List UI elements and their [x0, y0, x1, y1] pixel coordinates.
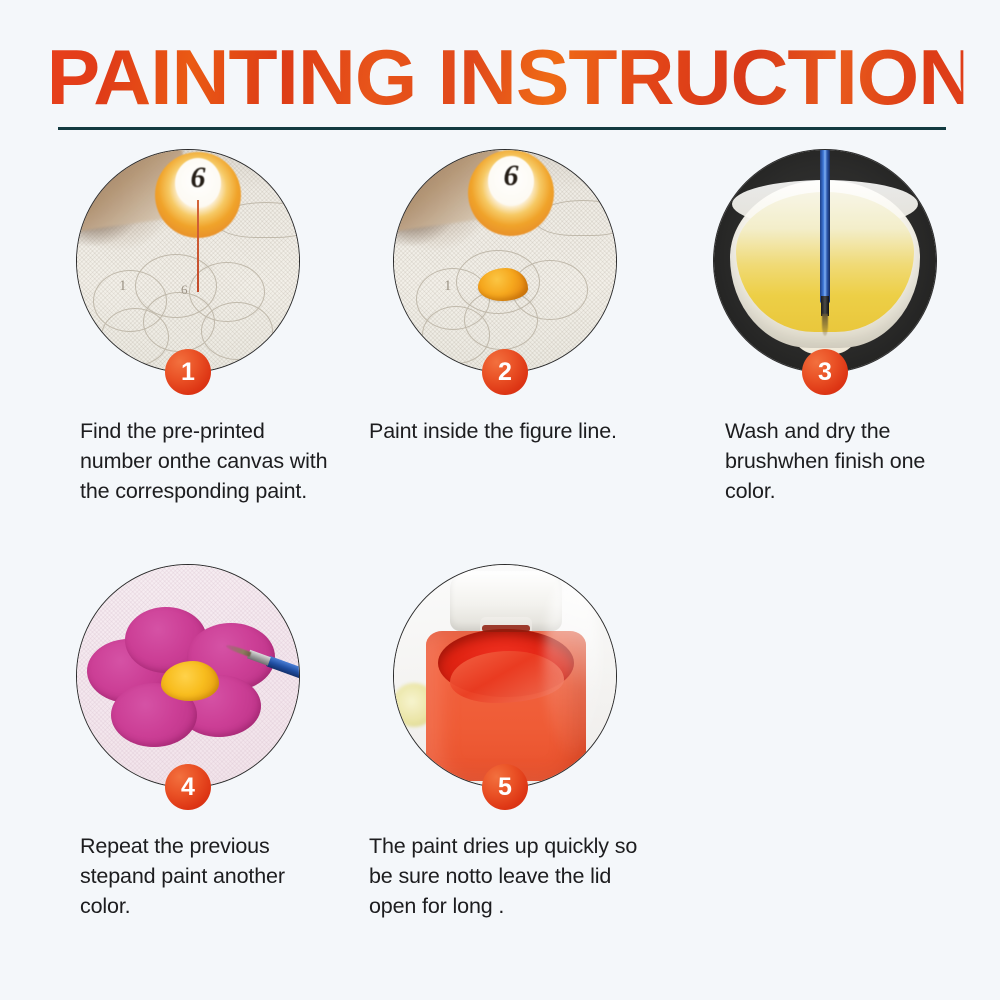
painted-color-blob	[478, 268, 528, 301]
step-badge-2: 2	[482, 349, 528, 395]
step-card-4: 4 Repeat the previous stepand paint anot…	[38, 565, 338, 921]
flower-outline	[201, 302, 273, 360]
flower-center	[161, 661, 219, 701]
step-badge-3: 3	[802, 349, 848, 395]
flower-outline	[422, 306, 490, 364]
step-badge-4: 4	[165, 764, 211, 810]
step-badge-1: 1	[165, 349, 211, 395]
step-caption-2: Paint inside the figure line.	[355, 416, 655, 446]
highlight-gloss	[544, 575, 600, 755]
flower-outline	[101, 308, 169, 366]
page-header: PAINTING INSTRUCTION	[0, 0, 1000, 140]
step-2-media: 1 6 2	[394, 150, 616, 372]
step-caption-5: The paint dries up quickly so be sure no…	[355, 831, 655, 921]
painted-blob-on-canvas-photo: 1 6	[394, 150, 616, 372]
pot-number-label: 6	[488, 159, 534, 193]
canvas-with-preprinted-number-photo: 1 6 6	[77, 150, 299, 372]
pink-flower-painted-photo	[77, 565, 299, 787]
step-caption-3: Wash and dry the brushwhen finish one co…	[675, 416, 975, 506]
step-4-media: 4	[77, 565, 299, 787]
lid-hinge	[482, 625, 530, 632]
brush-bristles	[822, 314, 828, 336]
step-5-media: 5	[394, 565, 616, 787]
canvas-number-6: 6	[181, 282, 188, 298]
canvas-number-1: 1	[119, 278, 127, 295]
brush-handle	[820, 150, 830, 304]
step-card-1: 1 6 6 1 Find the pre-printed number onth…	[38, 150, 338, 506]
title-underline-rule	[58, 127, 946, 130]
step-badge-5: 5	[482, 764, 528, 810]
pot-number-label: 6	[175, 161, 221, 195]
step-caption-1: Find the pre-printed number onthe canvas…	[38, 416, 338, 506]
step-card-5: 5 The paint dries up quickly so be sure …	[355, 565, 655, 921]
pointer-line	[197, 200, 199, 292]
step-3-media: 3	[714, 150, 936, 372]
brush-washing-in-cup-photo	[714, 150, 936, 372]
step-caption-4: Repeat the previous stepand paint anothe…	[38, 831, 338, 921]
page-title: PAINTING INSTRUCTION	[47, 36, 964, 118]
step-card-2: 1 6 2 Paint inside the figure line.	[355, 150, 655, 446]
step-card-3: 3 Wash and dry the brushwhen finish one …	[675, 150, 975, 506]
step-1-media: 1 6 6 1	[77, 150, 299, 372]
paint-pot-lid: 6	[468, 150, 554, 236]
brush-ferrule	[821, 296, 829, 316]
open-red-paint-pot-photo	[394, 565, 616, 787]
canvas-number-1: 1	[444, 278, 452, 295]
